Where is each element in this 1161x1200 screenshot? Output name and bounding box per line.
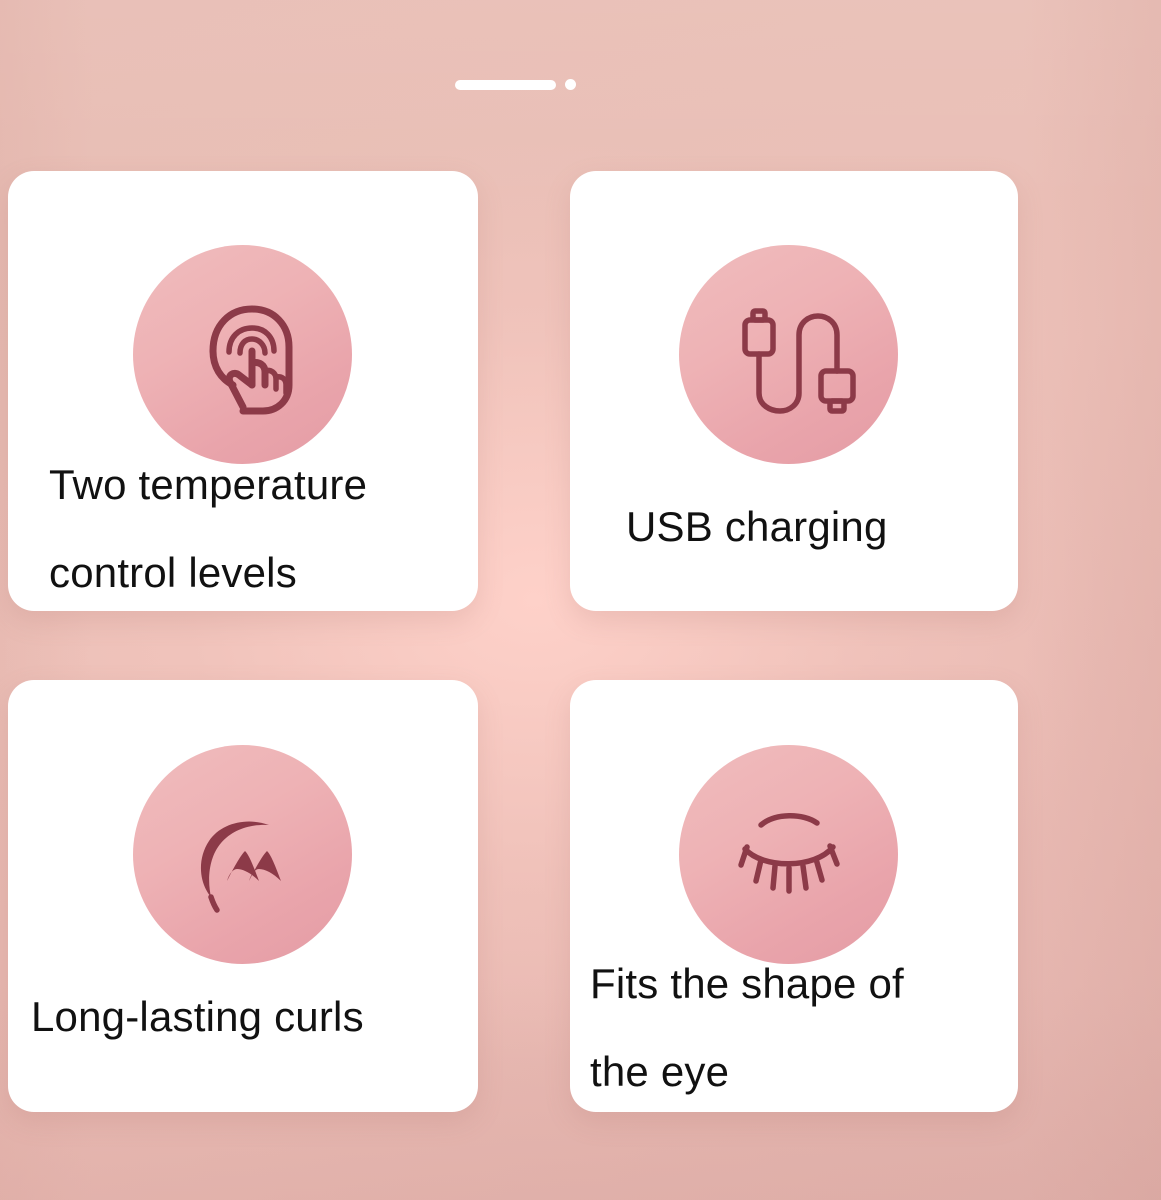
- feature-label-temperature-control: Two temperature control levels: [49, 441, 479, 617]
- touch-gesture-icon: [133, 245, 352, 464]
- feature-label-eye-shape-fit: Fits the shape of the eye: [590, 940, 1000, 1116]
- usb-cable-icon: [679, 245, 898, 464]
- active-page-bar[interactable]: [455, 80, 556, 90]
- feature-label-long-lasting-curls: Long-lasting curls: [31, 973, 471, 1061]
- closed-eye-icon: [679, 745, 898, 964]
- inactive-page-dot[interactable]: [565, 79, 576, 90]
- eyelash-curl-icon: [133, 745, 352, 964]
- feature-label-usb-charging: USB charging: [626, 483, 1016, 571]
- page-indicator[interactable]: [455, 79, 576, 90]
- feature-grid-screen: Two temperature control levels USB charg…: [0, 0, 1161, 1200]
